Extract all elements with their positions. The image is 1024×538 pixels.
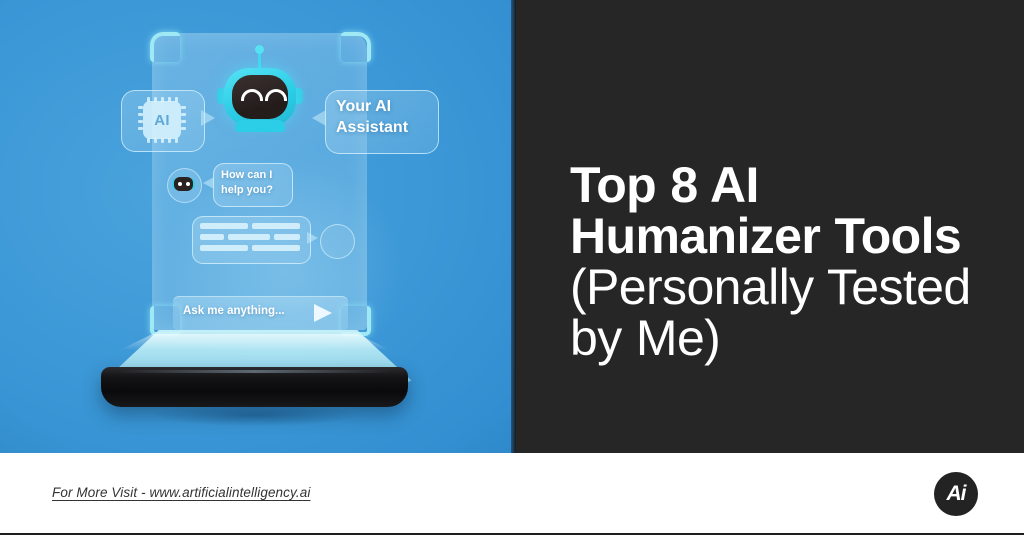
robot-body bbox=[235, 120, 285, 132]
chip-pin bbox=[161, 97, 164, 102]
panel-split-edge bbox=[511, 0, 516, 453]
logo-mark-text: Ai bbox=[934, 472, 978, 516]
placeholder-bar bbox=[252, 223, 300, 229]
chip-pin bbox=[168, 138, 171, 143]
chip-pin bbox=[181, 113, 186, 116]
phone-drop-shadow bbox=[120, 400, 390, 430]
chip-pin bbox=[175, 97, 178, 102]
page-title: Top 8 AI Humanizer Tools (Personally Tes… bbox=[570, 160, 1000, 364]
ai-chip-bubble-tail bbox=[201, 110, 215, 126]
chip-pin bbox=[138, 127, 143, 130]
ai-brand-logo-icon: Ai bbox=[934, 472, 978, 516]
frame-corner-top-right-icon bbox=[341, 32, 371, 62]
chip-pin bbox=[181, 120, 186, 123]
chip-pin bbox=[154, 138, 157, 143]
ai-chip-icon: AI bbox=[143, 101, 181, 139]
chat-input-placeholder: Ask me anything... bbox=[183, 305, 285, 317]
mini-robot-eye-right bbox=[186, 182, 190, 186]
placeholder-bar bbox=[274, 234, 300, 240]
help-bubble-tail bbox=[203, 177, 214, 189]
placeholder-bar bbox=[252, 245, 300, 251]
robot-head-icon bbox=[219, 48, 301, 122]
chip-pin bbox=[181, 106, 186, 109]
mini-robot-eye-left bbox=[178, 182, 182, 186]
chip-pin bbox=[168, 97, 171, 102]
chip-pin bbox=[161, 138, 164, 143]
chip-pin bbox=[138, 106, 143, 109]
chip-pin bbox=[138, 113, 143, 116]
chip-pin bbox=[181, 127, 186, 130]
placeholder-bar bbox=[200, 245, 248, 251]
phone-illustration: AI Your AI Assistant How can I help you? bbox=[0, 0, 515, 453]
chip-pin bbox=[138, 120, 143, 123]
chip-pin bbox=[154, 97, 157, 102]
banner-root: AI Your AI Assistant How can I help you? bbox=[0, 0, 1024, 538]
chip-pin bbox=[147, 138, 150, 143]
message-bubble-tail bbox=[307, 232, 318, 244]
headline-bold-part: Top 8 AI Humanizer Tools bbox=[570, 157, 961, 264]
frame-corner-top-left-icon bbox=[150, 32, 180, 62]
message-avatar-circle bbox=[320, 224, 355, 259]
chip-pin bbox=[147, 97, 150, 102]
robot-antenna-tip bbox=[255, 45, 264, 54]
chip-pin bbox=[175, 138, 178, 143]
placeholder-bar bbox=[228, 234, 270, 240]
send-arrow-icon[interactable] bbox=[314, 304, 332, 322]
assistant-bubble-tail bbox=[312, 110, 326, 126]
placeholder-bar bbox=[200, 223, 248, 229]
placeholder-bar bbox=[200, 234, 224, 240]
phone-base-highlight bbox=[118, 370, 390, 373]
phone-deck-shine bbox=[120, 334, 390, 350]
help-bubble-text: How can I help you? bbox=[221, 168, 285, 198]
footer-website-link[interactable]: For More Visit - www.artificialintellige… bbox=[52, 485, 310, 500]
footer-bottom-rule bbox=[0, 533, 1024, 535]
mini-robot-face bbox=[174, 177, 193, 191]
headline-light-part: (Personally Tested by Me) bbox=[570, 259, 971, 366]
assistant-bubble-text: Your AI Assistant bbox=[336, 96, 428, 138]
